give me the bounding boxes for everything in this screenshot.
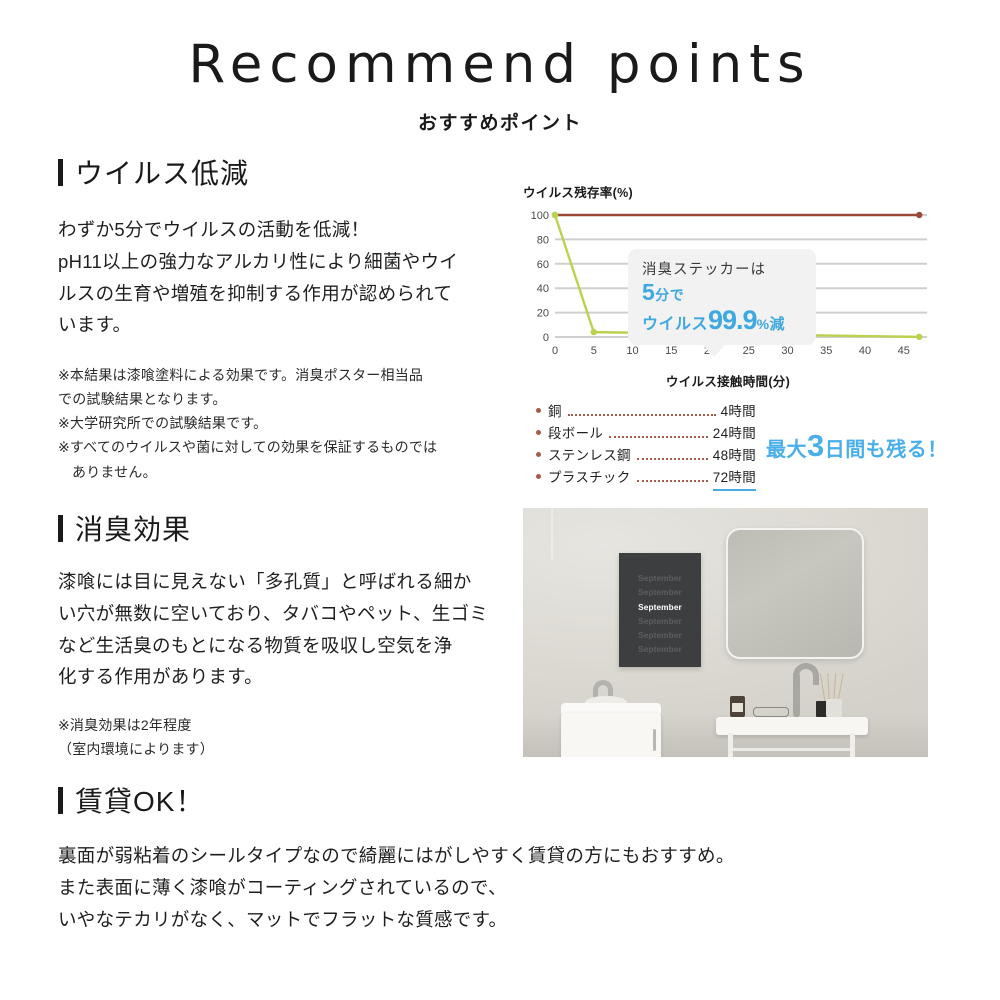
section-rental-ok: 賃貸OK！ 裏面が弱粘着のシールタイプなので綺麗にはがしやすく賃貸の方にもおすす… bbox=[58, 780, 918, 935]
photo-sink-counter bbox=[716, 717, 868, 735]
svg-text:100: 100 bbox=[531, 210, 549, 222]
poster-line-highlight: September bbox=[619, 600, 701, 614]
note-line: での試験結果となります。 bbox=[58, 387, 528, 411]
body-line: ルスの生育や増殖を抑制する作用が認められて bbox=[58, 278, 528, 310]
callout-line-1: 消臭ステッカーは bbox=[642, 258, 804, 279]
bathroom-interior-photo: September September September September … bbox=[523, 508, 928, 757]
dotted-leader bbox=[637, 458, 708, 460]
page-subtitle: おすすめポイント bbox=[0, 108, 1000, 135]
svg-text:60: 60 bbox=[537, 259, 549, 271]
body-line: います。 bbox=[58, 309, 528, 341]
section-virus-heading-text: ウイルス低減 bbox=[75, 152, 249, 192]
section-virus-notes: ※本結果は漆喰塗料による効果です。消臭ポスター相当品 での試験結果となります。 … bbox=[58, 363, 528, 483]
bullet-dot-icon bbox=[536, 452, 541, 457]
svg-text:30: 30 bbox=[781, 345, 793, 357]
section-odor-heading-text: 消臭効果 bbox=[75, 508, 191, 548]
svg-text:45: 45 bbox=[898, 345, 910, 357]
callout-minutes-unit: 分で bbox=[655, 287, 684, 303]
heading-bar-icon bbox=[58, 515, 63, 542]
chart-y-axis-title: ウイルス残存率(%) bbox=[523, 182, 933, 201]
section-virus-reduction: ウイルス低減 わずか5分でウイルスの活動を低減！ pH11以上の強力なアルカリ性… bbox=[58, 152, 528, 484]
page-root: Recommend points おすすめポイント ウイルス低減 わずか5分でウ… bbox=[0, 0, 1000, 1000]
svg-text:40: 40 bbox=[537, 283, 549, 295]
note-line: ※本結果は漆喰塗料による効果です。消臭ポスター相当品 bbox=[58, 363, 528, 387]
max-duration-callout: 最大3日間も残る！ bbox=[766, 428, 948, 464]
section-odor-notes: ※消臭効果は2年程度 （室内環境によります） bbox=[58, 713, 528, 761]
photo-diffuser-vase bbox=[826, 699, 842, 717]
section-rental-heading: 賃貸OK！ bbox=[58, 780, 918, 820]
chart-x-axis-title: ウイルス接触時間(分) bbox=[523, 371, 933, 390]
note-line: ありません。 bbox=[58, 460, 528, 484]
photo-poster: September September September September … bbox=[619, 553, 701, 667]
page-title: Recommend points bbox=[0, 36, 1000, 94]
photo-sink-stand-bar bbox=[728, 748, 855, 751]
body-line: 裏面が弱粘着のシールタイプなので綺麗にはがしやすく賃貸の方にもおすすめ。 bbox=[58, 840, 918, 872]
max-suffix: 日間も残る！ bbox=[825, 439, 948, 461]
virus-survival-legend: 銅 4時間 段ボール 24時間 ステンレス鋼 48時間 プラスチック 72時間 bbox=[536, 401, 756, 491]
note-line: ※消臭効果は2年程度 bbox=[58, 713, 528, 737]
body-line: 漆喰には目に見えない「多孔質」と呼ばれる細か bbox=[58, 566, 528, 598]
callout-reduce-word: 減 bbox=[770, 316, 786, 333]
photo-eyeglasses bbox=[753, 707, 789, 717]
note-line: （室内環境によります） bbox=[58, 737, 528, 761]
photo-toilet-tank bbox=[561, 713, 661, 757]
poster-line: September bbox=[619, 571, 701, 585]
dotted-leader bbox=[568, 414, 716, 416]
body-line: いやなテカリがなく、マットでフラットな質感です。 bbox=[58, 904, 918, 936]
callout-minutes: 5 bbox=[642, 279, 655, 305]
section-rental-body: 裏面が弱粘着のシールタイプなので綺麗にはがしやすく賃貸の方にもおすすめ。 また表… bbox=[58, 840, 918, 935]
section-virus-body: わずか5分でウイルスの活動を低減！ pH11以上の強力なアルカリ性により細菌やウ… bbox=[58, 214, 528, 341]
photo-sink-leg-left bbox=[728, 733, 733, 757]
photo-sink-faucet bbox=[793, 673, 800, 717]
photo-sink-leg-right bbox=[850, 733, 855, 757]
svg-text:15: 15 bbox=[665, 345, 677, 357]
svg-text:5: 5 bbox=[591, 345, 597, 357]
max-number: 3 bbox=[807, 428, 825, 463]
heading-bar-icon bbox=[58, 787, 63, 814]
poster-line: September bbox=[619, 628, 701, 642]
poster-line: September bbox=[619, 585, 701, 599]
section-odor-effect: 消臭効果 漆喰には目に見えない「多孔質」と呼ばれる細か い穴が無数に空いており、… bbox=[58, 508, 528, 761]
virus-survival-chart: ウイルス残存率(%) 02040608010005101520253035404… bbox=[523, 182, 933, 390]
legend-item-value: 4時間 bbox=[721, 401, 756, 423]
legend-item-name: ステンレス鋼 bbox=[548, 445, 631, 467]
poster-line: September bbox=[619, 642, 701, 656]
callout-line-2: 5分で bbox=[642, 280, 804, 305]
bullet-dot-icon bbox=[536, 408, 541, 413]
note-line: ※すべてのウイルスや菌に対しての効果を保証するものでは bbox=[58, 435, 528, 459]
legend-item-name: プラスチック bbox=[548, 467, 631, 489]
body-line: 化する作用があります。 bbox=[58, 661, 528, 693]
svg-text:0: 0 bbox=[552, 345, 558, 357]
section-virus-heading: ウイルス低減 bbox=[58, 152, 528, 192]
svg-text:25: 25 bbox=[743, 345, 755, 357]
photo-towel-bar bbox=[653, 729, 656, 751]
legend-item: プラスチック 72時間 bbox=[536, 467, 756, 492]
legend-item-value-highlighted: 72時間 bbox=[713, 467, 756, 492]
callout-line-3: ウイルス99.9%減 bbox=[642, 306, 804, 334]
legend-item: 段ボール 24時間 bbox=[536, 423, 756, 445]
bullet-dot-icon bbox=[536, 430, 541, 435]
heading-bar-icon bbox=[58, 159, 63, 186]
svg-text:20: 20 bbox=[537, 308, 549, 320]
bullet-dot-icon bbox=[536, 474, 541, 479]
section-odor-heading: 消臭効果 bbox=[58, 508, 528, 548]
callout-percent-sign: % bbox=[757, 316, 770, 332]
photo-mirror bbox=[726, 528, 864, 659]
callout-virus-word: ウイルス bbox=[642, 316, 708, 333]
dotted-leader bbox=[609, 436, 708, 438]
note-line: ※大学研究所での試験結果です。 bbox=[58, 411, 528, 435]
body-line: pH11以上の強力なアルカリ性により細菌やウイ bbox=[58, 246, 528, 278]
photo-amber-bottle bbox=[730, 696, 745, 717]
max-prefix: 最大 bbox=[766, 439, 807, 461]
body-line: わずか5分でウイルスの活動を低減！ bbox=[58, 214, 528, 246]
dotted-leader bbox=[637, 480, 708, 482]
poster-line: September bbox=[619, 614, 701, 628]
body-line: い穴が無数に空いており、タバコやペット、生ゴミ bbox=[58, 598, 528, 630]
legend-item-value: 48時間 bbox=[713, 445, 756, 467]
legend-item: 銅 4時間 bbox=[536, 401, 756, 423]
chart-plot-area: 020406080100051015202530354045 消臭ステッカーは … bbox=[523, 207, 933, 367]
section-odor-body: 漆喰には目に見えない「多孔質」と呼ばれる細か い穴が無数に空いており、タバコやペ… bbox=[58, 566, 528, 693]
body-line: など生活臭のもとになる物質を吸収し空気を浄 bbox=[58, 630, 528, 662]
callout-percent-value: 99.9 bbox=[708, 305, 757, 335]
svg-text:0: 0 bbox=[543, 332, 549, 344]
page-header: Recommend points おすすめポイント bbox=[0, 36, 1000, 135]
svg-text:10: 10 bbox=[626, 345, 638, 357]
legend-item-value: 24時間 bbox=[713, 423, 756, 445]
svg-text:40: 40 bbox=[859, 345, 871, 357]
svg-text:35: 35 bbox=[820, 345, 832, 357]
section-rental-heading-text: 賃貸OK！ bbox=[75, 780, 204, 820]
chart-callout: 消臭ステッカーは 5分で ウイルス99.9%減 bbox=[628, 249, 816, 345]
legend-item-name: 段ボール bbox=[548, 423, 603, 445]
body-line: また表面に薄く漆喰がコーティングされているので、 bbox=[58, 872, 918, 904]
svg-text:80: 80 bbox=[537, 234, 549, 246]
legend-item-name: 銅 bbox=[548, 401, 562, 423]
legend-item: ステンレス鋼 48時間 bbox=[536, 445, 756, 467]
